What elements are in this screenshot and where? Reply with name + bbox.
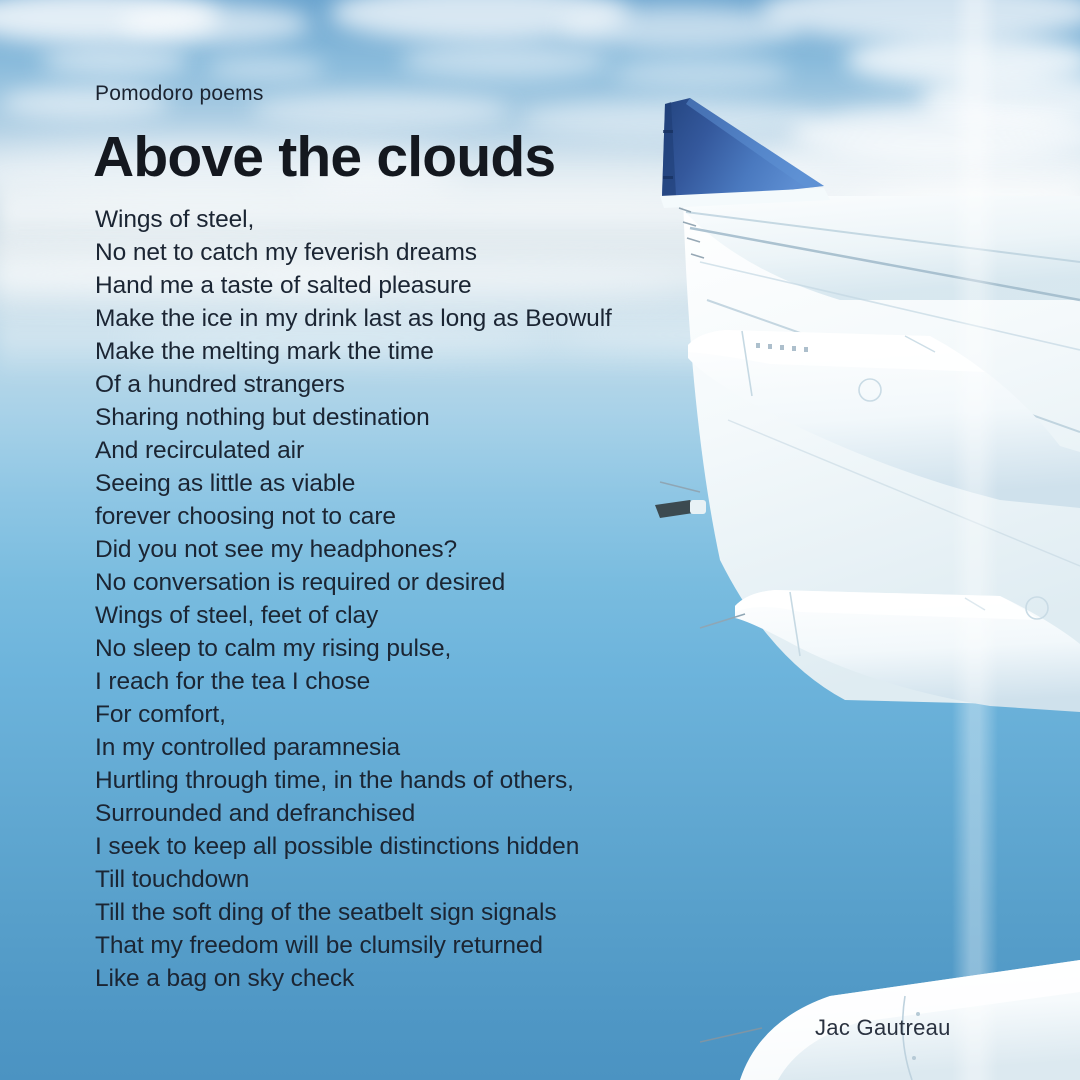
poem-line: I reach for the tea I chose (95, 665, 715, 698)
poem-line: forever choosing not to care (95, 500, 715, 533)
page-title: Above the clouds (93, 124, 555, 190)
poem-line: For comfort, (95, 698, 715, 731)
poem-line: And recirculated air (95, 434, 715, 467)
window-reflection-band (952, 0, 998, 1080)
author-byline: Jac Gautreau (815, 1015, 951, 1041)
poem-line: Seeing as little as viable (95, 467, 715, 500)
poem-line: No conversation is required or desired (95, 566, 715, 599)
poem-line: Hurtling through time, in the hands of o… (95, 764, 715, 797)
poem-line: Make the ice in my drink last as long as… (95, 302, 715, 335)
poem-line: Hand me a taste of salted pleasure (95, 269, 715, 302)
poem-line: Surrounded and defranchised (95, 797, 715, 830)
poem-line: Make the melting mark the time (95, 335, 715, 368)
poem-body: Wings of steel,No net to catch my feveri… (95, 203, 715, 995)
poem-line: No sleep to calm my rising pulse, (95, 632, 715, 665)
poem-line: In my controlled paramnesia (95, 731, 715, 764)
poem-line: I seek to keep all possible distinctions… (95, 830, 715, 863)
poem-poster: Pomodoro poems Above the clouds Wings of… (0, 0, 1080, 1080)
poem-line: That my freedom will be clumsily returne… (95, 929, 715, 962)
poem-line: Of a hundred strangers (95, 368, 715, 401)
winglet (660, 98, 830, 208)
poem-line: Till touchdown (95, 863, 715, 896)
poem-line: Till the soft ding of the seatbelt sign … (95, 896, 715, 929)
poem-line: No net to catch my feverish dreams (95, 236, 715, 269)
series-kicker: Pomodoro poems (95, 82, 264, 106)
poem-line: Wings of steel, feet of clay (95, 599, 715, 632)
poem-line: Wings of steel, (95, 203, 715, 236)
poem-line: Did you not see my headphones? (95, 533, 715, 566)
poem-line: Sharing nothing but destination (95, 401, 715, 434)
poem-line: Like a bag on sky check (95, 962, 715, 995)
